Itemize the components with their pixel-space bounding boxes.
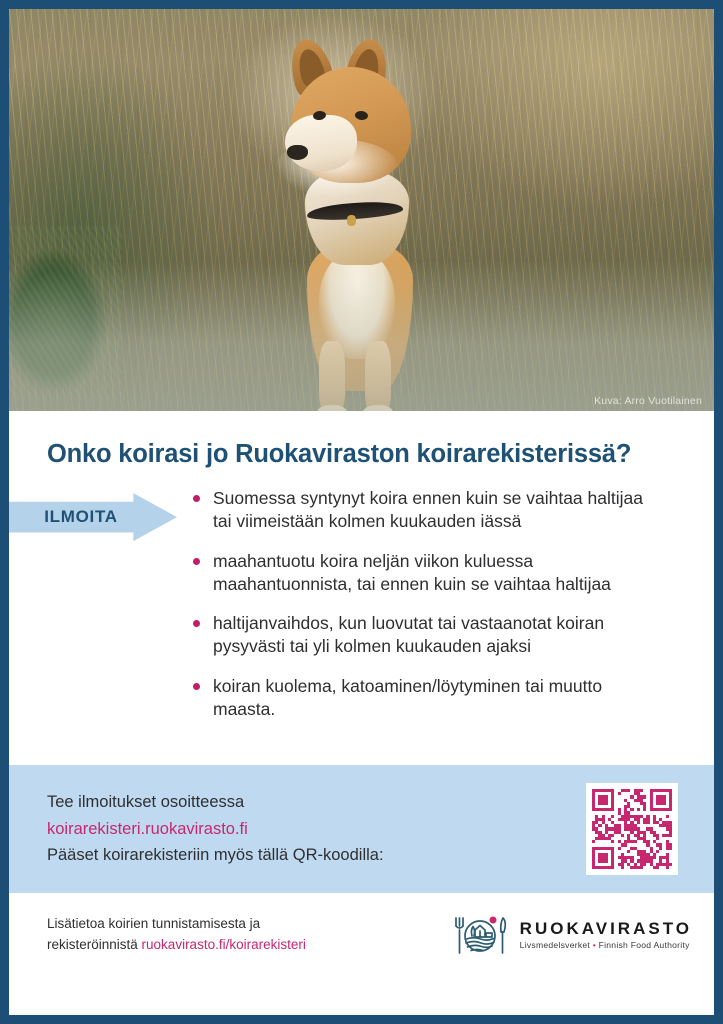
ilmoita-arrow-label: ILMOITA <box>44 507 118 527</box>
footer: Lisätietoa koirien tunnistamisesta ja re… <box>9 893 714 975</box>
qr-code[interactable] <box>586 783 678 875</box>
dog-nose <box>287 145 308 160</box>
logo-title: RUOKAVIRASTO <box>520 919 692 938</box>
ilmoita-arrow-badge: ILMOITA <box>9 493 177 541</box>
ruokavirasto-emblem-icon <box>451 911 509 959</box>
headline-lead: Onko koirasi jo Ruokaviraston <box>47 440 417 468</box>
ruokavirasto-logo: RUOKAVIRASTO Livsmedelsverket • Finnish … <box>451 911 692 959</box>
footer-line-2: rekisteröinnistä ruokavirasto.fi/koirare… <box>47 935 306 956</box>
headline-emphasis: koirarekisterissä? <box>417 440 632 468</box>
logo-subtitle-left: Livsmedelsverket <box>520 940 590 950</box>
list-item: koiran kuolema, katoaminen/löytyminen ta… <box>191 675 656 722</box>
ruokavirasto-link[interactable]: ruokavirasto.fi/koirarekisteri <box>142 937 306 952</box>
poster: Kuva: Arro Vuotilainen Onko koirasi jo R… <box>0 0 723 1024</box>
footer-line-1: Lisätietoa koirien tunnistamisesta ja <box>47 914 306 935</box>
logo-wordmark: RUOKAVIRASTO Livsmedelsverket • Finnish … <box>520 920 692 951</box>
page-title: Onko koirasi jo Ruokaviraston koirarekis… <box>9 411 714 469</box>
band-line-1: Tee ilmoitukset osoitteessa <box>47 789 384 816</box>
logo-subtitle-separator: • <box>593 940 596 950</box>
frost-overlay <box>9 261 714 411</box>
footer-info-text: Lisätietoa koirien tunnistamisesta ja re… <box>47 914 306 956</box>
list-item: Suomessa syntynyt koira ennen kuin se va… <box>191 487 656 534</box>
dog-muzzle <box>285 115 357 171</box>
hero-photo: Kuva: Arro Vuotilainen <box>9 9 714 411</box>
qr-code-matrix <box>592 789 672 869</box>
notify-bullet-list: Suomessa syntynyt koira ennen kuin se va… <box>191 487 714 737</box>
register-info-band: Tee ilmoitukset osoitteessa koirarekiste… <box>9 765 714 893</box>
list-item: maahantuotu koira neljän viikon kuluessa… <box>191 550 656 597</box>
koirarekisteri-link[interactable]: koirarekisteri.ruokavirasto.fi <box>47 816 384 843</box>
footer-line-2-prefix: rekisteröinnistä <box>47 937 142 952</box>
logo-subtitle-right: Finnish Food Authority <box>599 940 690 950</box>
notify-section: ILMOITA Suomessa syntynyt koira ennen ku… <box>9 469 714 759</box>
band-line-3: Pääset koirarekisteriin myös tällä QR-ko… <box>47 842 384 869</box>
dog-collar-tag <box>347 215 356 226</box>
register-info-text: Tee ilmoitukset osoitteessa koirarekiste… <box>47 789 384 869</box>
list-item: haltijanvaihdos, kun luovutat tai vastaa… <box>191 612 656 659</box>
photo-credit: Kuva: Arro Vuotilainen <box>594 395 702 407</box>
logo-subtitle: Livsmedelsverket • Finnish Food Authorit… <box>520 941 692 950</box>
